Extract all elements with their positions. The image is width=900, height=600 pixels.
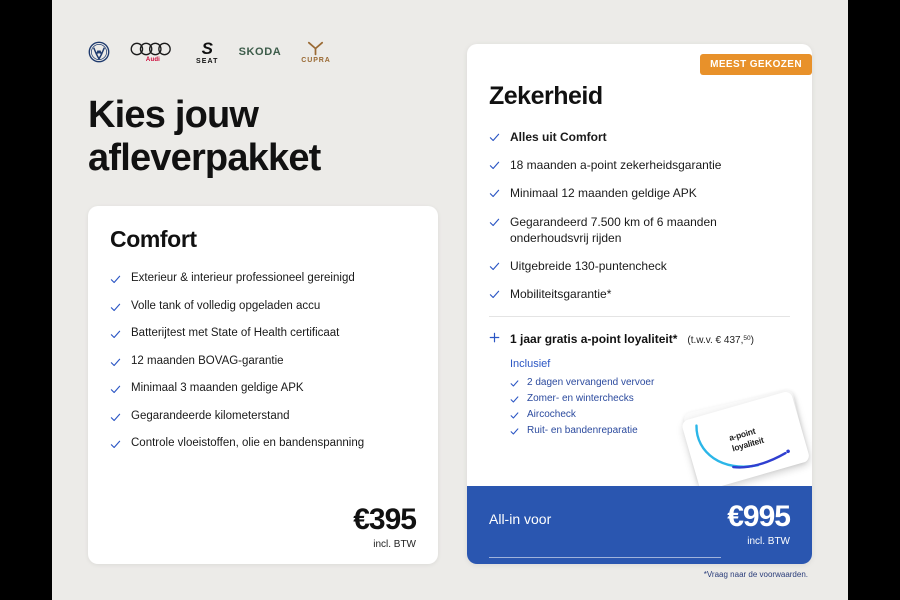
list-item: Gegarandeerde kilometerstand xyxy=(110,409,416,425)
list-item-label: Minimaal 12 maanden geldige APK xyxy=(510,185,697,201)
check-icon xyxy=(489,261,500,272)
all-in-label: All-in voor xyxy=(489,502,551,527)
list-item: 18 maanden a-point zekerheidsgarantie xyxy=(489,157,790,173)
check-icon xyxy=(110,302,121,313)
list-item-label: Batterijtest met State of Health certifi… xyxy=(131,326,339,342)
list-item-label: 2 dagen vervangend vervoer xyxy=(527,377,654,388)
list-item: Uitgebreide 130-puntencheck xyxy=(489,258,790,274)
comfort-package-card[interactable]: Comfort Exterieur & interieur profession… xyxy=(88,206,438,564)
cupra-mark-glyph xyxy=(307,41,324,56)
check-icon xyxy=(510,427,519,436)
check-icon xyxy=(110,357,121,368)
zekerheid-price-block: €995 incl. BTW xyxy=(727,502,790,547)
loyalty-value-suffix: ) xyxy=(751,335,754,346)
check-icon xyxy=(489,132,500,143)
list-item: Volle tank of volledig opgeladen accu xyxy=(110,299,416,315)
check-icon xyxy=(110,274,121,285)
audi-logo-icon: Audi xyxy=(130,42,176,63)
list-item-label: Volle tank of volledig opgeladen accu xyxy=(131,299,320,315)
list-item: 12 maanden BOVAG-garantie xyxy=(110,354,416,370)
list-item: 2 dagen vervangend vervoer xyxy=(510,377,790,388)
comfort-title: Comfort xyxy=(110,226,416,253)
vw-logo-icon xyxy=(88,41,110,63)
list-item-label: Exterieur & interieur professioneel gere… xyxy=(131,271,355,287)
skoda-logo-icon: SKODA xyxy=(239,46,282,58)
list-item-label: Ruit- en bandenreparatie xyxy=(527,425,638,436)
comfort-price-block: €395 incl. BTW xyxy=(353,505,416,550)
list-item: Exterieur & interieur professioneel gere… xyxy=(110,271,416,287)
check-icon xyxy=(510,411,519,420)
price-row: All-in voor €995 incl. BTW xyxy=(489,502,790,547)
seat-wordmark: SEAT xyxy=(196,58,219,65)
loyalty-value-prefix: (t.w.v. € 437, xyxy=(687,335,743,346)
check-icon xyxy=(110,439,121,450)
list-item: Alles uit Comfort xyxy=(489,129,790,145)
check-icon xyxy=(110,329,121,340)
check-icon xyxy=(510,379,519,388)
list-item-label: 18 maanden a-point zekerheidsgarantie xyxy=(510,157,721,173)
status-badge: MEEST GEKOZEN xyxy=(700,54,812,75)
footer-underline xyxy=(489,557,721,558)
list-item-label: Mobiliteitsgarantie* xyxy=(510,286,611,302)
list-item-label: Gegarandeerd 7.500 km of 6 maanden onder… xyxy=(510,214,790,246)
plus-icon xyxy=(489,332,500,343)
loyalty-label: 1 jaar gratis a-point loyaliteit* xyxy=(510,332,677,346)
seat-mark-glyph: S xyxy=(202,40,213,57)
check-icon xyxy=(110,412,121,423)
loyalty-value-cents: 50 xyxy=(743,335,750,342)
zekerheid-price-footer: All-in voor €995 incl. BTW xyxy=(467,486,812,564)
list-item-label: Uitgebreide 130-puntencheck xyxy=(510,258,667,274)
comfort-price: €395 xyxy=(353,505,416,535)
page-title: Kies jouw afleverpakket xyxy=(88,94,418,179)
check-icon xyxy=(489,160,500,171)
screenshot-stage: Audi S SEAT SKODA CUPRA Kies jouw afleve… xyxy=(0,0,900,600)
zekerheid-price: €995 xyxy=(727,502,790,532)
list-item: Minimaal 12 maanden geldige APK xyxy=(489,185,790,201)
comfort-price-note: incl. BTW xyxy=(353,539,416,550)
list-item-label: Aircocheck xyxy=(527,409,576,420)
seat-logo-icon: S SEAT xyxy=(196,40,219,65)
zekerheid-package-card[interactable]: MEEST GEKOZEN Zekerheid Alles uit Comfor… xyxy=(467,44,812,564)
section-divider xyxy=(489,316,790,317)
check-icon xyxy=(489,188,500,199)
check-icon xyxy=(489,217,500,228)
list-item-label: Gegarandeerde kilometerstand xyxy=(131,409,290,425)
zekerheid-title: Zekerheid xyxy=(489,82,790,111)
vw-logo-glyph xyxy=(88,41,110,63)
footnote: *Vraag naar de voorwaarden. xyxy=(704,570,808,579)
zekerheid-feature-list: Alles uit Comfort 18 maanden a-point zek… xyxy=(489,129,790,302)
list-item-label: Zomer- en winterchecks xyxy=(527,393,634,404)
brand-logo-row: Audi S SEAT SKODA CUPRA xyxy=(88,38,331,66)
zekerheid-card-body: MEEST GEKOZEN Zekerheid Alles uit Comfor… xyxy=(467,44,812,436)
list-item: Controle vloeistoffen, olie en bandenspa… xyxy=(110,436,416,452)
zekerheid-price-note: incl. BTW xyxy=(727,536,790,547)
poster-content-area: Audi S SEAT SKODA CUPRA Kies jouw afleve… xyxy=(52,0,848,600)
list-item-label: Minimaal 3 maanden geldige APK xyxy=(131,381,304,397)
inclusief-title: Inclusief xyxy=(510,358,790,370)
list-item: Minimaal 3 maanden geldige APK xyxy=(110,381,416,397)
check-icon xyxy=(110,384,121,395)
list-item: Batterijtest met State of Health certifi… xyxy=(110,326,416,342)
audi-rings-glyph xyxy=(130,42,176,56)
list-item-label: Controle vloeistoffen, olie en bandenspa… xyxy=(131,436,364,452)
loyalty-value: (t.w.v. € 437,50) xyxy=(687,335,754,346)
loyalty-highlight-row: 1 jaar gratis a-point loyaliteit* (t.w.v… xyxy=(489,332,790,346)
list-item: Mobiliteitsgarantie* xyxy=(489,286,790,302)
check-icon xyxy=(489,289,500,300)
skoda-wordmark: SKODA xyxy=(239,46,282,58)
list-item-label: 12 maanden BOVAG-garantie xyxy=(131,354,284,370)
cupra-logo-icon: CUPRA xyxy=(301,41,330,64)
cupra-wordmark: CUPRA xyxy=(301,57,330,64)
list-item-label: Alles uit Comfort xyxy=(510,129,607,145)
check-icon xyxy=(510,395,519,404)
audi-wordmark: Audi xyxy=(146,57,160,63)
comfort-feature-list: Exterieur & interieur professioneel gere… xyxy=(110,271,416,452)
list-item: Gegarandeerd 7.500 km of 6 maanden onder… xyxy=(489,214,790,246)
